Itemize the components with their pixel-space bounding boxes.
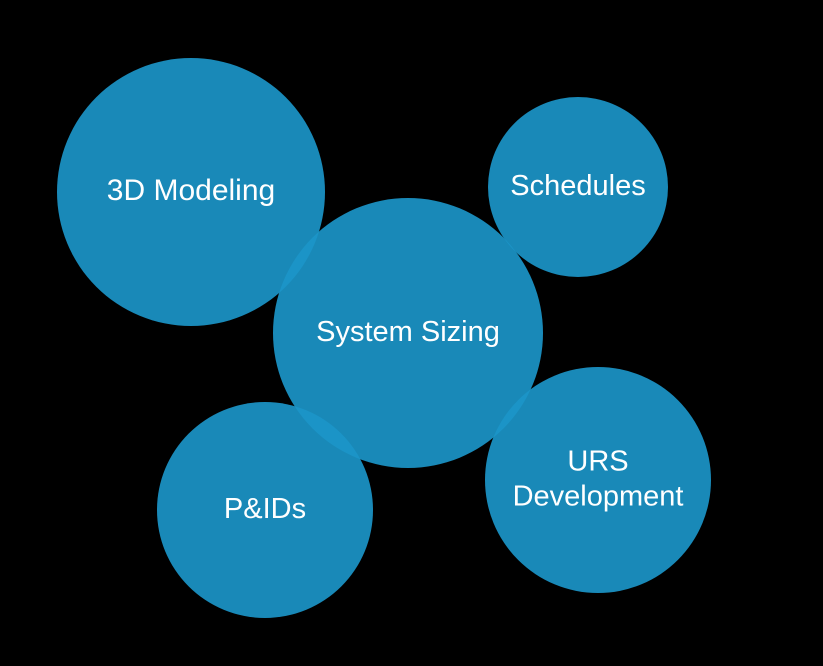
bubble-label-system-sizing: System Sizing (316, 316, 500, 348)
bubble-label-line: P&IDs (224, 493, 306, 525)
diagram-canvas: 3D ModelingSchedulesSystem SizingP&IDsUR… (0, 0, 823, 666)
bubble-label-line: 3D Modeling (107, 174, 275, 207)
bubble-label-schedules: Schedules (510, 170, 645, 202)
bubble-label-3d-modeling: 3D Modeling (107, 174, 275, 207)
bubble-label-line: Schedules (510, 170, 645, 202)
bubble-label-line: URS (567, 445, 628, 477)
bubble-label-pids: P&IDs (224, 493, 306, 525)
bubble-label-line: Development (513, 480, 684, 512)
bubble-diagram: 3D ModelingSchedulesSystem SizingP&IDsUR… (0, 0, 823, 666)
bubble-label-line: System Sizing (316, 316, 500, 348)
